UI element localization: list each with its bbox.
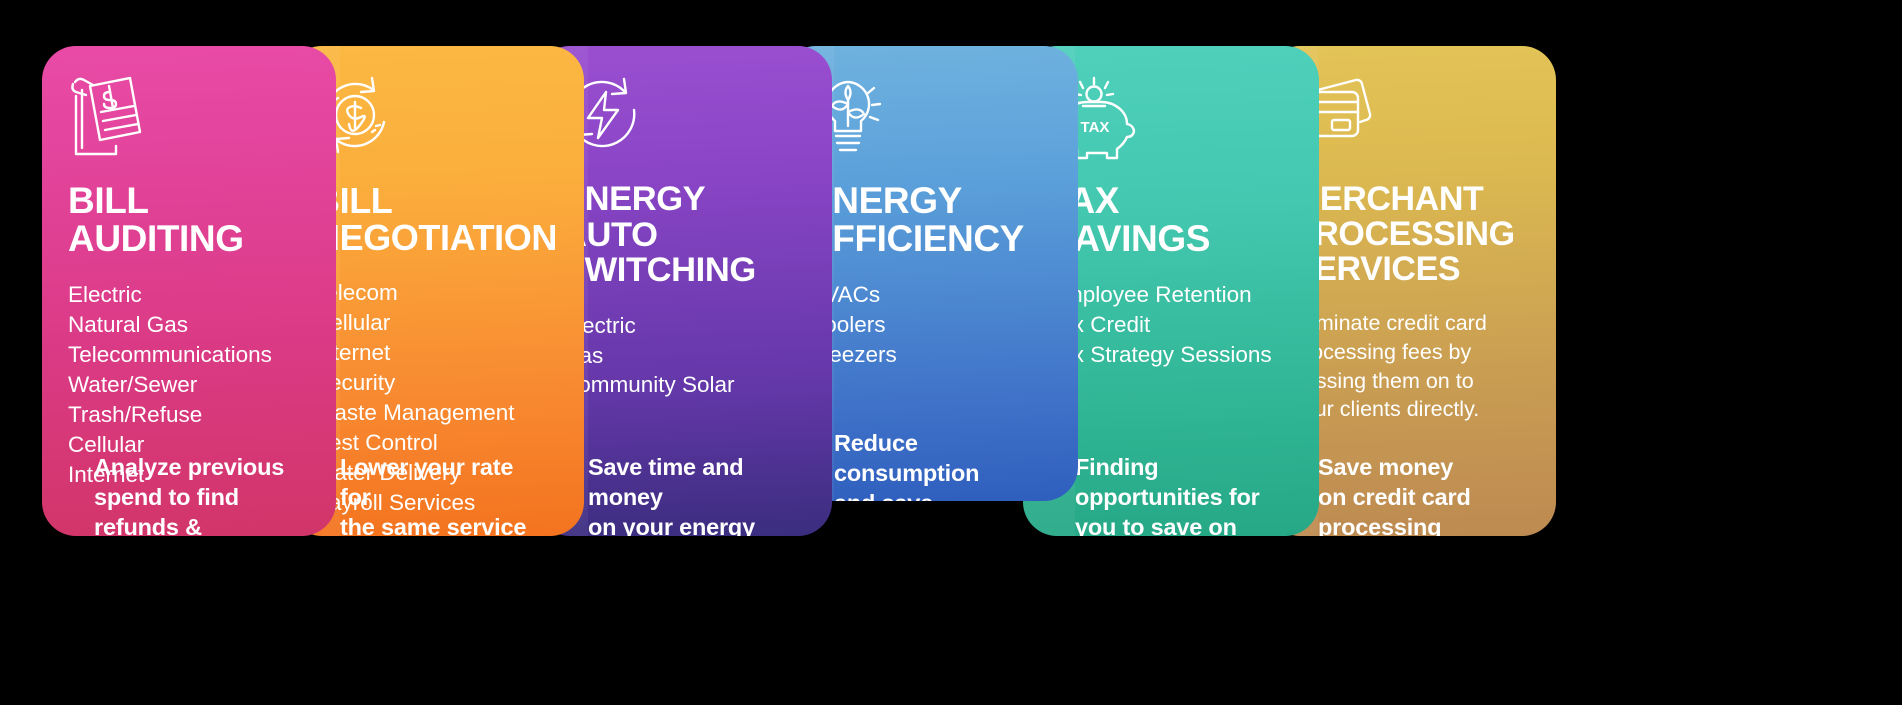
lightbulb-leaf-icon [808, 74, 1052, 164]
list-item: Security [314, 368, 558, 398]
list-item: HVACs [808, 280, 1052, 310]
service-list: Employee Retention Tax Credit Tax Strate… [1049, 280, 1293, 370]
card-blurb: Eliminate credit card processing fees by… [1292, 309, 1530, 424]
list-item: Gas [562, 341, 806, 371]
card-tagline: Finding opportunities for you to save on… [1075, 452, 1279, 536]
lightning-bolt-refresh-icon [562, 74, 806, 164]
svg-text:TAX: TAX [1081, 119, 1110, 136]
list-item: Freezers [808, 340, 1052, 370]
card-tagline: Save money on credit card processing [1318, 452, 1516, 536]
card-title: TAX SAVINGS [1049, 182, 1293, 258]
list-item: Internet [314, 338, 558, 368]
list-item: Water/Sewer [68, 370, 310, 400]
list-item: Waste Management [314, 398, 558, 428]
card-tagline: Reduce consumption and save [834, 428, 1038, 501]
list-item: Employee Retention [1049, 280, 1293, 310]
card-tagline: Save time and money on your energy with … [588, 452, 792, 536]
service-list: HVACs Coolers Freezers [808, 280, 1052, 370]
list-item: Electric [68, 280, 310, 310]
card-title: BILL NEGOTIATION [314, 182, 558, 256]
card-title: ENERGY EFFICIENCY [808, 182, 1052, 258]
card-tagline: Analyze previous spend to find refunds &… [94, 452, 296, 536]
list-item: Coolers [808, 310, 1052, 340]
card-title: ENERGY AUTO SWITCHING [562, 182, 806, 289]
card-title: BILL AUDITING [68, 182, 310, 258]
invoice-document-dollar-icon [68, 74, 310, 164]
service-cards-graphic: BILL AUDITING Electric Natural Gas Telec… [0, 0, 1902, 705]
credit-cards-icon [1292, 74, 1530, 164]
card-title: MERCHANT PROCESSING SERVICES [1292, 182, 1530, 287]
list-item: Community Solar [562, 370, 806, 400]
dollar-refresh-cycle-icon [314, 74, 558, 164]
list-item: Natural Gas [68, 310, 310, 340]
list-item: Cellular [314, 308, 558, 338]
card-bill-auditing[interactable]: BILL AUDITING Electric Natural Gas Telec… [42, 46, 336, 536]
list-item: Telecommunications [68, 340, 310, 370]
list-item: Tax Strategy Sessions [1049, 340, 1293, 370]
list-item: Trash/Refuse [68, 400, 310, 430]
card-tagline: Lower your rate for the same service wit… [340, 452, 544, 536]
list-item: Tax Credit [1049, 310, 1293, 340]
list-item: Electric [562, 311, 806, 341]
piggy-bank-tax-icon: TAX [1049, 74, 1293, 164]
list-item: Telecom [314, 278, 558, 308]
service-list: Electric Gas Community Solar [562, 311, 806, 401]
